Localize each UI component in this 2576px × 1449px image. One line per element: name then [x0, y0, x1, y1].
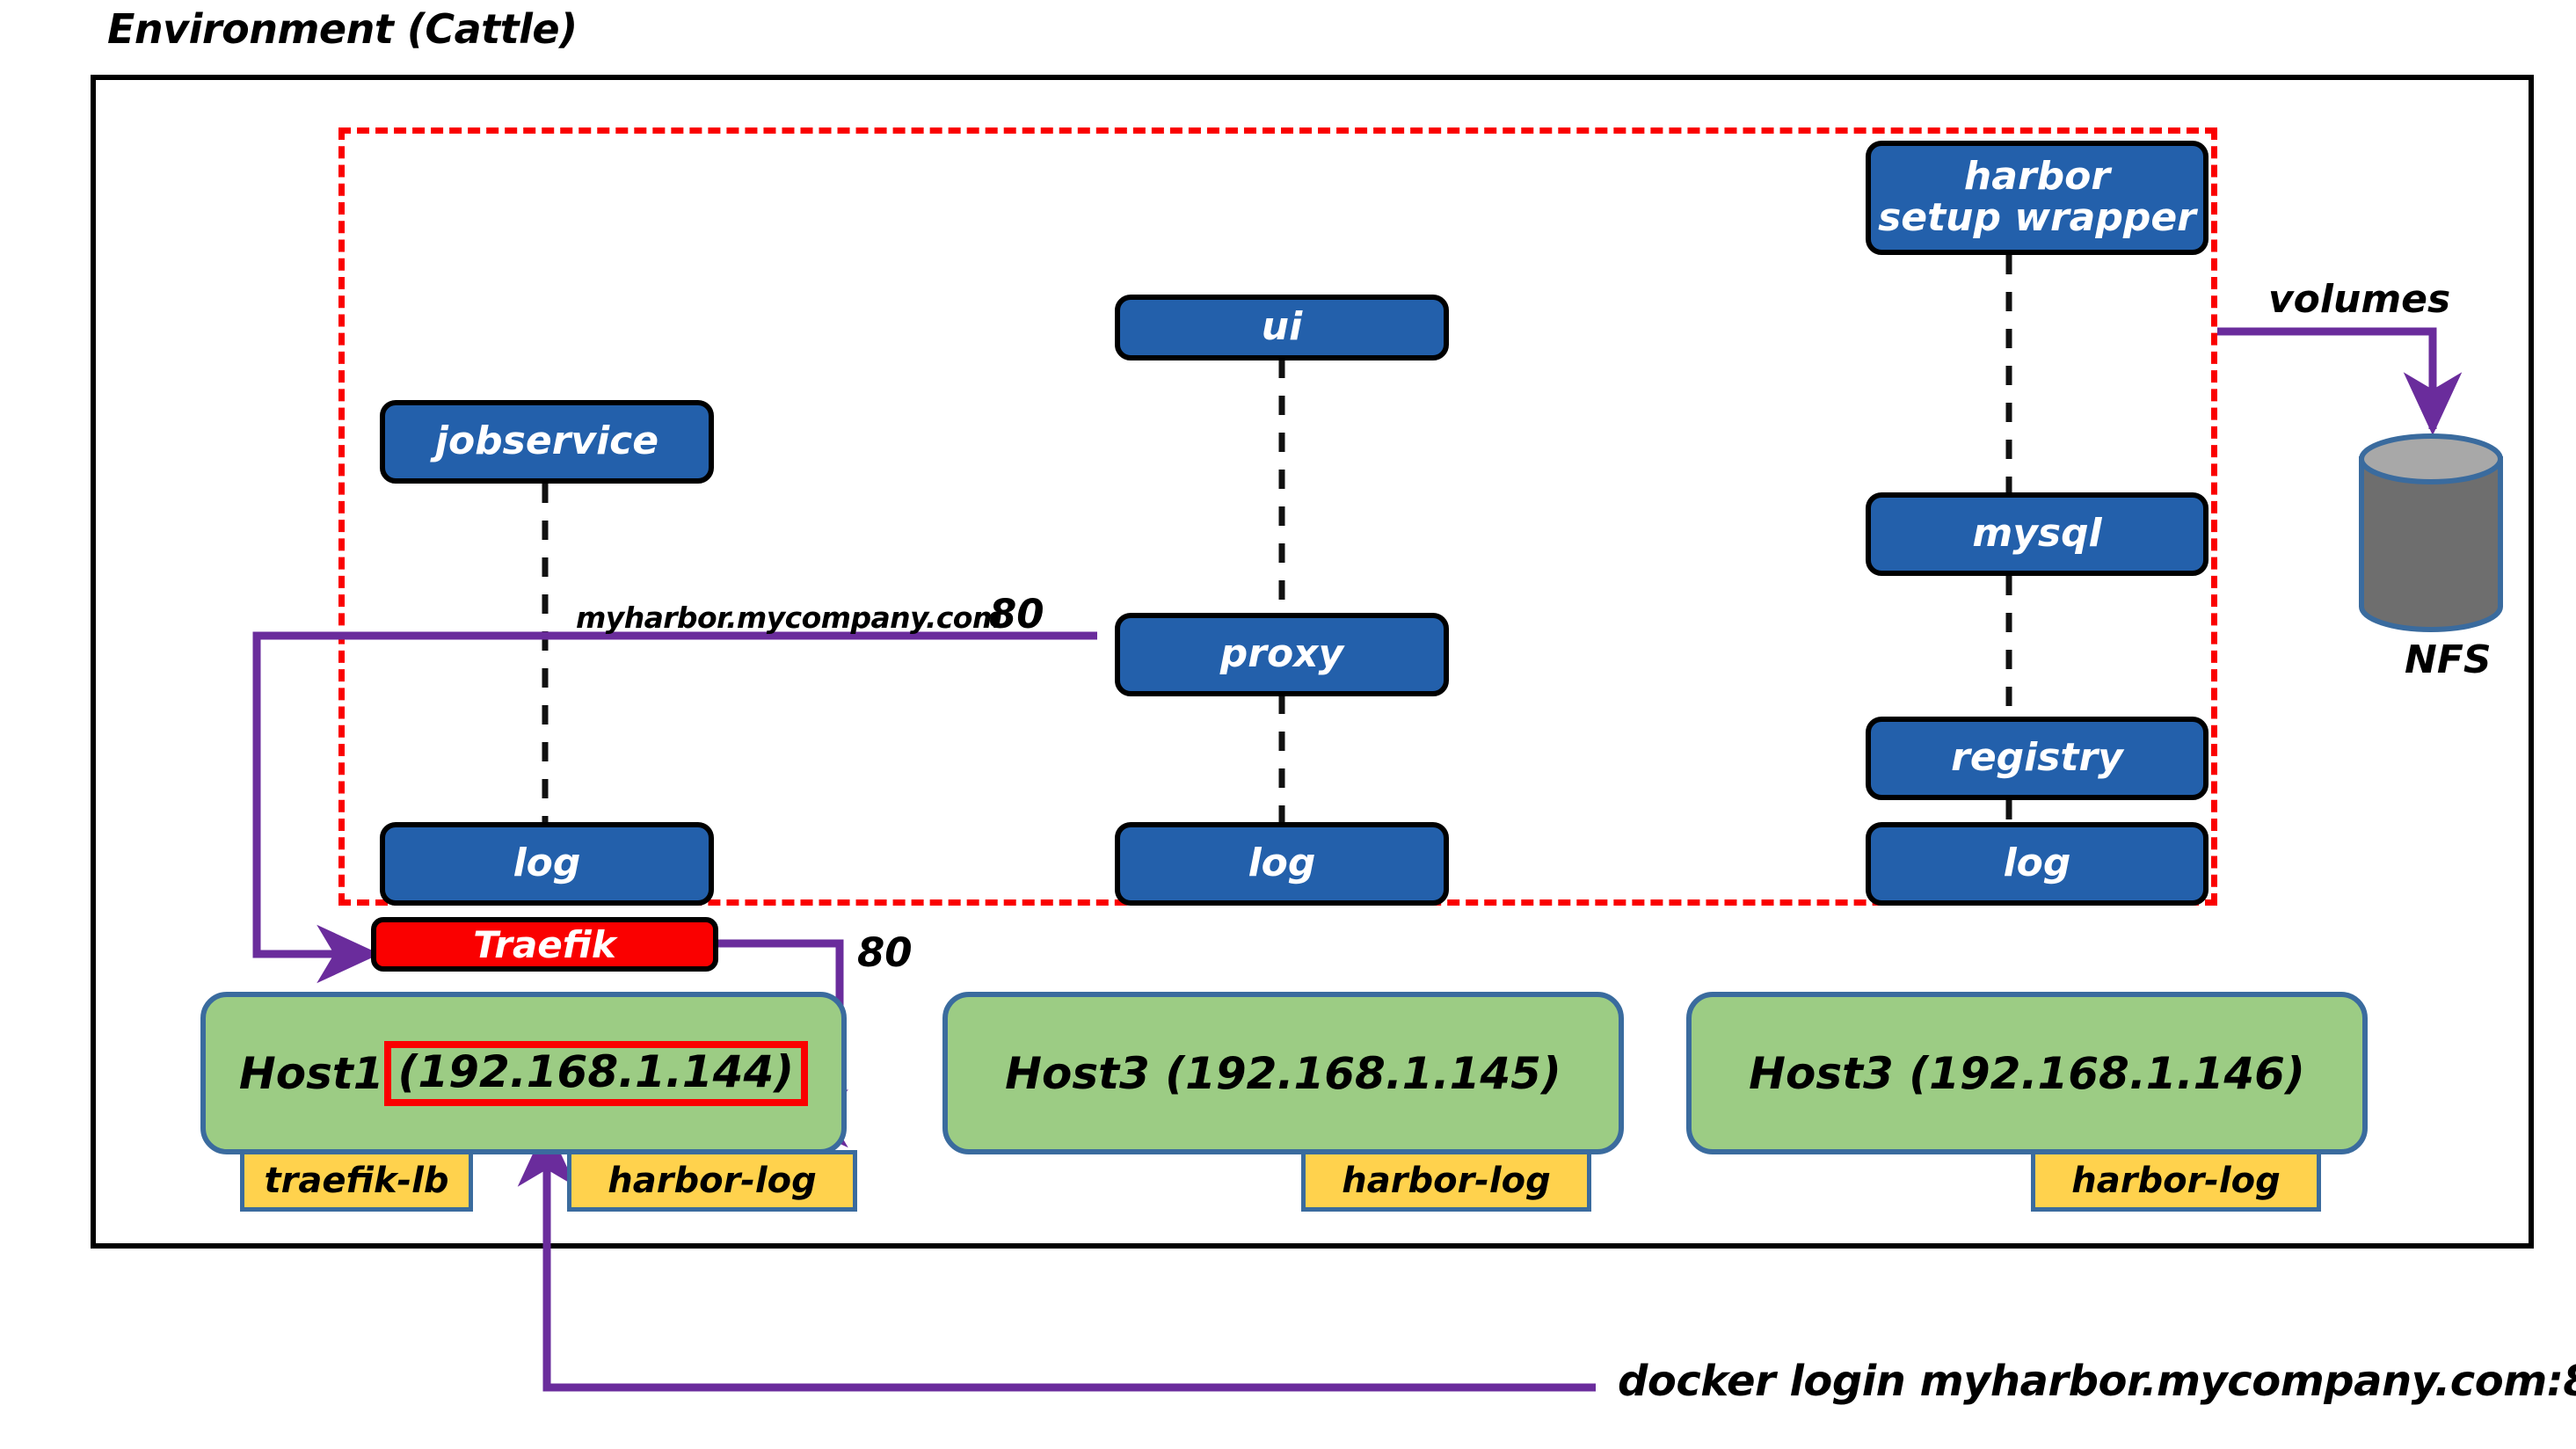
service-box-proxy[interactable]: proxy: [1115, 613, 1449, 696]
host2-name: Host3 (192.168.1.145): [1005, 1048, 1561, 1099]
nfs-storage-cylinder: [2356, 433, 2506, 633]
host-box-host2[interactable]: Host3 (192.168.1.145): [942, 992, 1624, 1154]
service-box-jobservice-log[interactable]: log: [380, 822, 714, 906]
service-box-registry[interactable]: registry: [1866, 717, 2209, 800]
host1-ip-highlight: (192.168.1.144): [384, 1041, 809, 1106]
diagram-canvas: Environment (Cattle): [0, 0, 2576, 1449]
traefik-port-label: 80: [857, 929, 913, 976]
tag-host1-traefik-lb[interactable]: traefik-lb: [240, 1150, 473, 1212]
service-box-jobservice[interactable]: jobservice: [380, 400, 714, 484]
service-box-registry-log[interactable]: log: [1866, 822, 2209, 906]
tag-host2-harbor-log[interactable]: harbor-log: [1301, 1150, 1591, 1212]
docker-login-command-label: docker login myharbor.mycompany.com:80: [1618, 1357, 2576, 1406]
service-box-proxy-log[interactable]: log: [1115, 822, 1449, 906]
proxy-port-label: 80: [989, 591, 1044, 637]
service-box-ui[interactable]: ui: [1115, 295, 1449, 360]
tag-host1-harbor-log[interactable]: harbor-log: [567, 1150, 857, 1212]
host3-name: Host3 (192.168.1.146): [1749, 1048, 2305, 1099]
service-box-mysql[interactable]: mysql: [1866, 492, 2209, 576]
host-rule-label: myharbor.mycompany.com: [576, 601, 1002, 635]
host-box-host1[interactable]: Host1 (192.168.1.144): [200, 992, 847, 1154]
volumes-label: volumes: [2268, 277, 2450, 322]
host-box-host3[interactable]: Host3 (192.168.1.146): [1686, 992, 2368, 1154]
service-box-traefik[interactable]: Traefik: [371, 917, 718, 972]
environment-title: Environment (Cattle): [107, 5, 578, 53]
tag-host3-harbor-log[interactable]: harbor-log: [2031, 1150, 2321, 1212]
nfs-label: NFS: [2405, 637, 2492, 682]
service-box-harbor-setup-wrapper[interactable]: harbor setup wrapper: [1866, 141, 2209, 255]
host1-name: Host1: [239, 1048, 384, 1099]
